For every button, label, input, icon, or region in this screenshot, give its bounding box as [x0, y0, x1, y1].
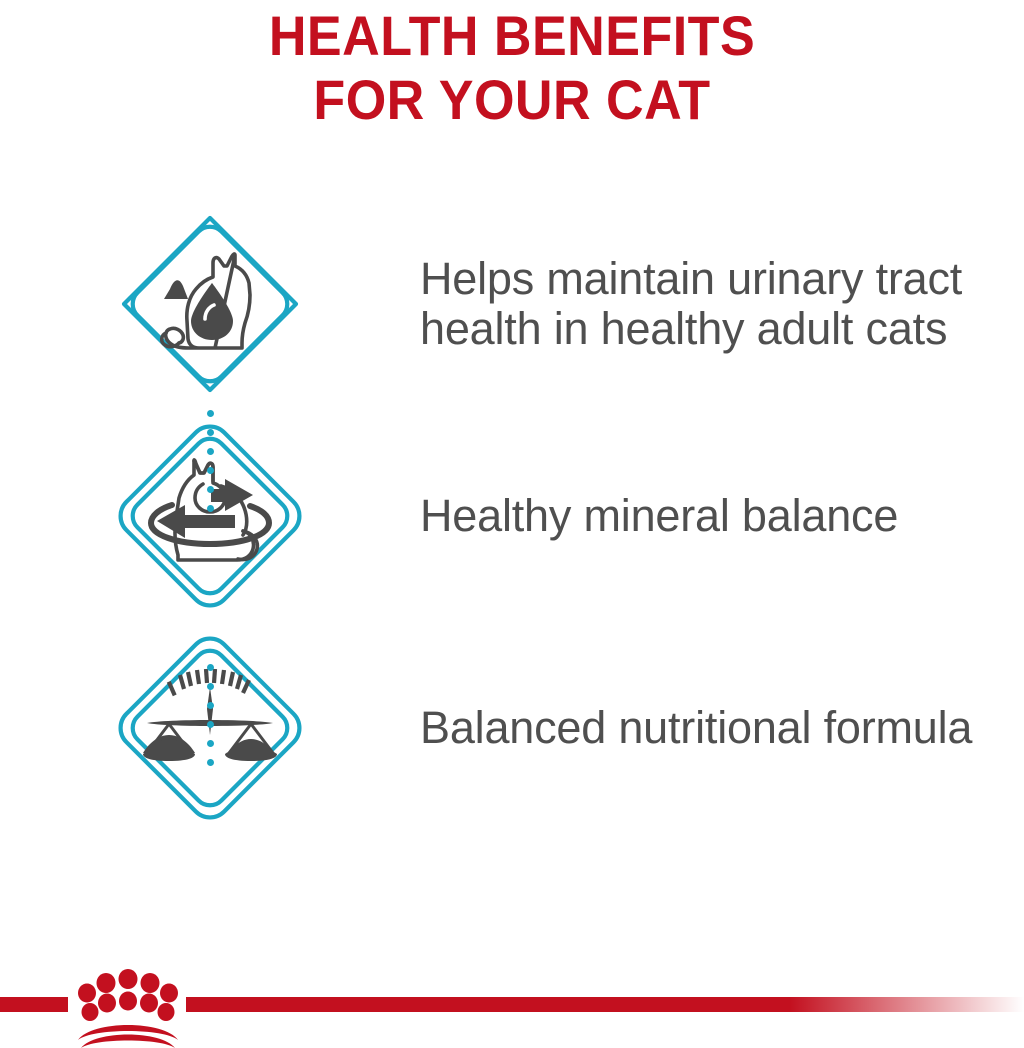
footer-rule-right: [186, 997, 1024, 1012]
title-line-1: HEALTH BENEFITS: [36, 4, 988, 68]
connector-dot: [207, 467, 214, 474]
connector-dots-1: [0, 410, 420, 512]
connector-dot: [207, 410, 214, 417]
connector-dot: [207, 664, 214, 671]
connector-dot: [207, 505, 214, 512]
page-title: HEALTH BENEFITS FOR YOUR CAT: [0, 0, 1024, 132]
royal-canin-crown-logo: [68, 962, 188, 1048]
footer-rule-left: [0, 997, 68, 1012]
benefit-text: Helps maintain urinary tract health in h…: [420, 254, 1014, 355]
benefit-text: Balanced nutritional formula: [420, 703, 976, 753]
benefit-text: Healthy mineral balance: [420, 491, 902, 541]
connector-dot: [207, 448, 214, 455]
connector-dots-2: [0, 664, 420, 766]
benefit-row: Helps maintain urinary tract health in h…: [0, 198, 1024, 410]
connector-dot: [207, 429, 214, 436]
benefit-icon-cell: [0, 211, 420, 397]
cat-urinary-droplet-icon: [117, 211, 303, 397]
connector-dot: [207, 759, 214, 766]
connector-dot: [207, 683, 214, 690]
footer: [0, 962, 1024, 1048]
connector-dot: [207, 721, 214, 728]
connector-dot: [207, 740, 214, 747]
title-line-2: FOR YOUR CAT: [36, 68, 988, 132]
connector-dot: [207, 486, 214, 493]
connector-dot: [207, 702, 214, 709]
